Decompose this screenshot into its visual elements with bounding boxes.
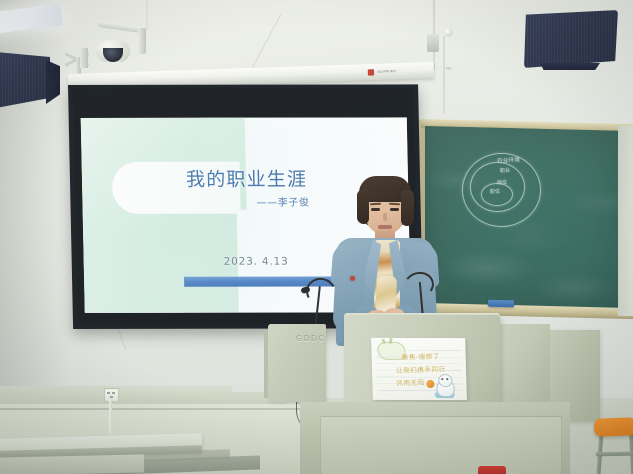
outlet-conduit [109, 399, 112, 433]
brand-logo-icon [368, 69, 375, 76]
classroom-scene: 电动屏幕 幕布 420 行业环境 职业 岗位 职位 我的职业生涯 ——李子俊 2… [0, 0, 633, 474]
wall-right-of-board [618, 126, 633, 316]
outlet-slot-c [110, 396, 113, 398]
presenter-badge [350, 276, 355, 281]
podium-base-door[interactable] [320, 416, 562, 474]
red-object [478, 466, 506, 474]
housing-code-text: 420 [446, 66, 452, 70]
paper-note-line-3: 风雨无阻 [396, 377, 425, 388]
slide-title: 我的职业生涯 [186, 165, 308, 192]
outlet-slot-a [107, 392, 110, 394]
housing-brand-text: 电动屏幕 幕布 [377, 70, 396, 74]
podium-brand-label: GDDC [296, 334, 326, 343]
presenter-nose [383, 213, 387, 221]
presenter-eye-left [371, 208, 380, 211]
speaker-grille [524, 10, 618, 68]
mascot-eye-left [441, 378, 443, 380]
chalk-label-1: 职业 [500, 167, 510, 175]
presenter-hair-side-right [401, 190, 414, 226]
presenter-hair-side-left [357, 190, 369, 224]
stool-seat[interactable] [594, 417, 633, 437]
mascot-ball-icon [426, 380, 434, 388]
rod-clip [427, 34, 439, 52]
chalk-label-2: 岗位 [497, 179, 507, 187]
rod-knob [444, 28, 453, 37]
slide-author: ——李子俊 [256, 194, 309, 209]
paper-note-line-2: 让我们携手同行 [396, 363, 446, 375]
chalk-label-3: 职位 [490, 188, 500, 196]
chalk-label-0: 行业环境 [497, 155, 521, 165]
slide-date: 2023. 4.13 [224, 256, 289, 268]
chalk-smudges [425, 126, 633, 311]
presenter-mouth [378, 225, 392, 229]
paper-mascot-icon [434, 374, 455, 396]
wall-bracket-plate [80, 48, 88, 68]
mascot-head [438, 374, 452, 387]
floor-seam [0, 408, 300, 410]
camera-post [138, 28, 146, 54]
wall-speaker-right-mount [540, 63, 600, 70]
ceiling-rod-lower [443, 36, 445, 114]
presenter-eye-right [390, 208, 399, 211]
outlet-slot-b [112, 392, 115, 394]
paper-note[interactable]: 聚焦·理想了 让我们携手同行 风雨无阻 [371, 338, 467, 400]
mascot-eye-right [446, 378, 448, 380]
blackboard-eraser[interactable] [488, 300, 514, 308]
stool-crossbar [596, 452, 633, 457]
camera-cable [146, 0, 148, 30]
paper-note-line-1: 聚焦·理想了 [401, 350, 440, 361]
housing-brand-label: 电动屏幕 幕布 [368, 66, 431, 76]
podium-right-panel [498, 324, 550, 408]
paper-decoration-tuft-a [381, 339, 386, 345]
blackboard[interactable] [425, 126, 633, 311]
front-desk-lower [0, 454, 144, 474]
wall-speaker-right [524, 10, 618, 68]
